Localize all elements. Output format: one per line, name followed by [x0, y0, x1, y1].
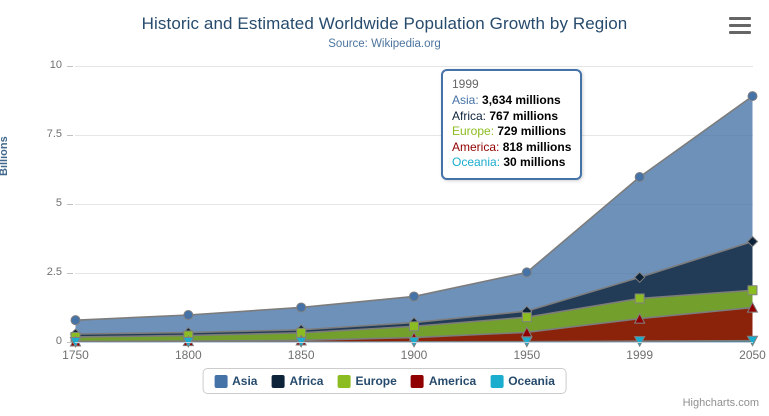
- tooltip-rows: Asia: 3,634 millionsAfrica: 767 millions…: [452, 93, 571, 171]
- point-marker-europe[interactable]: [410, 322, 419, 331]
- y-axis-tick-label: 5: [18, 197, 62, 209]
- tooltip-series-name: Europe:: [452, 124, 497, 138]
- legend-item-oceania[interactable]: Oceania: [490, 374, 555, 388]
- legend-label: Oceania: [508, 374, 555, 388]
- point-marker-asia[interactable]: [297, 303, 306, 312]
- tooltip-series-value: 30 millions: [503, 155, 565, 169]
- tooltip-series-value: 818 millions: [503, 140, 572, 154]
- point-marker-asia[interactable]: [184, 311, 193, 320]
- x-axis-tick-label: 2050: [723, 348, 769, 362]
- legend-label: Asia: [232, 374, 257, 388]
- point-marker-asia[interactable]: [522, 268, 531, 277]
- y-axis-tick-label: 0: [18, 335, 62, 347]
- point-marker-asia[interactable]: [748, 92, 757, 101]
- tooltip-series-name: Oceania:: [452, 155, 503, 169]
- point-marker-asia[interactable]: [635, 173, 644, 182]
- legend-item-asia[interactable]: Asia: [214, 374, 257, 388]
- tooltip-series-name: Asia:: [452, 93, 482, 107]
- tooltip-series-name: Africa:: [452, 109, 489, 123]
- legend-swatch-icon: [490, 375, 503, 388]
- chart-subtitle: Source: Wikipedia.org: [0, 38, 769, 50]
- tooltip-series-value: 3,634 millions: [482, 93, 561, 107]
- series-layer: [75, 66, 753, 342]
- x-axis-tick-label: 1950: [497, 348, 557, 362]
- x-axis-tick-label: 1999: [610, 348, 670, 362]
- tooltip-row-america: America: 818 millions: [452, 140, 571, 156]
- chart-title: Historic and Estimated Worldwide Populat…: [0, 14, 769, 34]
- legend-item-africa[interactable]: Africa: [271, 374, 323, 388]
- point-marker-asia[interactable]: [71, 316, 80, 325]
- hamburger-bar: [729, 24, 751, 27]
- point-marker-europe[interactable]: [748, 286, 757, 295]
- tooltip-row-oceania: Oceania: 30 millions: [452, 155, 571, 171]
- point-marker-europe[interactable]: [635, 294, 644, 303]
- y-axis-tick-label: 10: [18, 59, 62, 71]
- highcharts-container: Historic and Estimated Worldwide Populat…: [0, 0, 769, 416]
- hamburger-bar: [729, 17, 751, 20]
- y-axis-tick-mark: [67, 135, 73, 136]
- y-axis-tick-label: 2.5: [18, 266, 62, 278]
- x-axis-tick-label: 1900: [384, 348, 444, 362]
- legend-item-america[interactable]: America: [411, 374, 476, 388]
- tooltip-row-africa: Africa: 767 millions: [452, 109, 571, 125]
- tooltip-row-asia: Asia: 3,634 millions: [452, 93, 571, 109]
- legend-swatch-icon: [271, 375, 284, 388]
- tooltip-row-europe: Europe: 729 millions: [452, 124, 571, 140]
- y-axis-tick-mark: [67, 273, 73, 274]
- legend-swatch-icon: [337, 375, 350, 388]
- x-axis-tick-label: 1850: [271, 348, 331, 362]
- legend-label: Europe: [355, 374, 396, 388]
- plot-area: [75, 66, 753, 342]
- y-axis-tick-label: 7.5: [18, 128, 62, 140]
- y-axis-title: Billions: [0, 136, 10, 176]
- legend: AsiaAfricaEuropeAmericaOceania: [202, 368, 567, 394]
- tooltip-series-value: 767 millions: [489, 109, 558, 123]
- legend-label: Africa: [289, 374, 323, 388]
- point-marker-europe[interactable]: [522, 313, 531, 322]
- tooltip-header: 1999: [452, 77, 571, 91]
- x-axis-tick-label: 1750: [46, 348, 106, 362]
- x-axis-tick-label: 1800: [158, 348, 218, 362]
- hamburger-menu-icon[interactable]: [729, 17, 751, 34]
- tooltip: 1999 Asia: 3,634 millionsAfrica: 767 mil…: [441, 69, 582, 180]
- point-marker-asia[interactable]: [410, 292, 419, 301]
- x-axis-line: [75, 342, 753, 343]
- y-axis-tick-mark: [67, 66, 73, 67]
- legend-item-europe[interactable]: Europe: [337, 374, 396, 388]
- tooltip-series-value: 729 millions: [497, 124, 566, 138]
- hamburger-bar: [729, 31, 751, 34]
- legend-swatch-icon: [214, 375, 227, 388]
- legend-label: America: [429, 374, 476, 388]
- legend-swatch-icon: [411, 375, 424, 388]
- y-axis-tick-mark: [67, 204, 73, 205]
- tooltip-series-name: America:: [452, 140, 503, 154]
- credits-label[interactable]: Highcharts.com: [683, 397, 759, 409]
